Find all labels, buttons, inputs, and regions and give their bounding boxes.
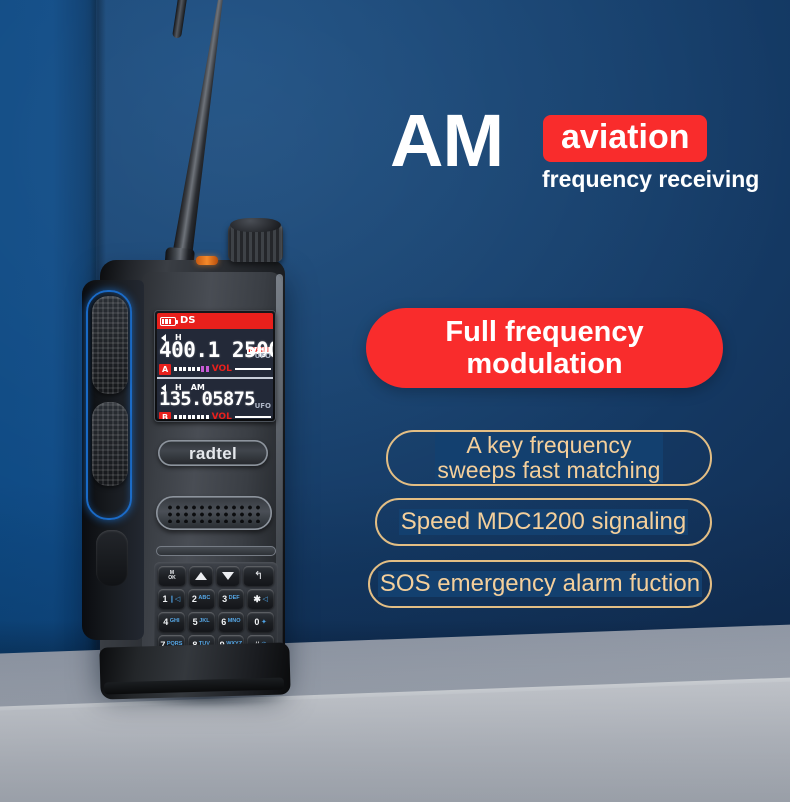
brand-logo-text: radtel [189, 445, 237, 462]
full-frequency-badge-label: Full frequencymodulation [445, 316, 643, 381]
key-star[interactable]: ✱ ◁ [247, 589, 274, 609]
feature-item-sos-label: SOS emergency alarm fuction [378, 571, 702, 597]
lcd-signal-meter-b [174, 415, 209, 419]
lcd-vol-bar-b [235, 416, 271, 418]
lcd-vol-bar-a [235, 368, 271, 370]
chevron-down-icon [222, 572, 234, 580]
side-button-lower[interactable] [96, 530, 128, 586]
lcd-vfo-a-vol-row: A VOL [159, 363, 271, 375]
up-button[interactable] [189, 566, 213, 586]
full-frequency-badge: Full frequencymodulation [366, 308, 723, 388]
feature-item-sos: SOS emergency alarm fuction [368, 560, 712, 608]
feature-item-mdc1200-label: Speed MDC1200 signaling [399, 509, 689, 535]
lcd-vfo-b: H AM 135.05875 UFO B VOL [157, 379, 273, 419]
lcd-vfo-b-vol-row: B VOL [159, 411, 271, 419]
down-button[interactable] [216, 566, 240, 586]
key-6[interactable]: 6 MNO [218, 612, 245, 632]
key-0[interactable]: 0 ✦ [247, 612, 274, 632]
headline-group: AM aviation frequency receiving [390, 108, 780, 204]
monitor-icon: ◁ [262, 596, 267, 603]
brand-logo-plate: radtel [158, 440, 268, 466]
lcd-screen: DS MAIN H 400.1 2500 UFO A [157, 313, 273, 419]
speaker-grille [156, 496, 272, 530]
aviation-badge: aviation [543, 115, 707, 162]
key-3[interactable]: 3 DEF [218, 589, 245, 609]
lcd-bezel: DS MAIN H 400.1 2500 UFO A [154, 310, 276, 422]
exit-button[interactable]: ↰ [243, 566, 274, 586]
key-2[interactable]: 2 ABC [188, 589, 215, 609]
lcd-vfo-a: MAIN H 400.1 2500 UFO A VOL [157, 329, 273, 377]
chevron-up-icon [195, 572, 207, 580]
lcd-signal-meter-a [174, 366, 209, 372]
keypad-row-2: 4 GHI 5 JKL 6 MNO 0 ✦ [158, 612, 274, 632]
key-5[interactable]: 5 JKL [188, 612, 215, 632]
menu-ok-button[interactable]: MOK [158, 566, 186, 586]
status-led-indicator [196, 256, 218, 265]
lcd-vol-label-a: VOL [212, 365, 232, 374]
lcd-vol-label-b: VOL [212, 413, 232, 420]
walkie-talkie-product: DS MAIN H 400.1 2500 UFO A [80, 0, 360, 720]
feature-item-sweep: A key frequencysweeps fast matching [386, 430, 712, 486]
volume-knob-top[interactable] [230, 218, 281, 232]
headline-subtitle: frequency receiving [542, 166, 759, 193]
speaker-grille-dots [165, 503, 263, 523]
microphone-slot [156, 546, 276, 556]
headline-am: AM [390, 104, 503, 178]
antenna-tip [172, 0, 190, 39]
aviation-badge-label: aviation [561, 118, 689, 156]
lcd-status-label: DS [180, 316, 196, 326]
ptt-button-secondary[interactable] [92, 402, 128, 486]
battery-icon [160, 317, 176, 326]
key-1[interactable]: 1 ❙◁ [158, 589, 185, 609]
feature-item-mdc1200: Speed MDC1200 signaling [375, 498, 712, 546]
lcd-vfo-a-vfo-label: UFO [255, 353, 271, 360]
promo-banner: DS MAIN H 400.1 2500 UFO A [0, 0, 790, 802]
lcd-channel-tag-a: A [159, 364, 171, 375]
return-arrow-icon: ↰ [254, 571, 263, 582]
lcd-channel-tag-b: B [159, 412, 171, 420]
ptt-button-primary[interactable] [92, 296, 128, 394]
scan-icon: ❙◁ [169, 596, 180, 603]
star-icon: ✦ [261, 619, 267, 626]
lcd-status-bar: DS [157, 313, 273, 329]
lcd-vfo-b-vfo-label: UFO [255, 403, 271, 410]
feature-item-sweep-label: A key frequencysweeps fast matching [435, 433, 662, 483]
key-4[interactable]: 4 GHI [158, 612, 185, 632]
keypad-row-function: MOK ↰ [158, 566, 274, 586]
keypad-row-1: 1 ❙◁ 2 ABC 3 DEF ✱ ◁ [158, 589, 274, 609]
